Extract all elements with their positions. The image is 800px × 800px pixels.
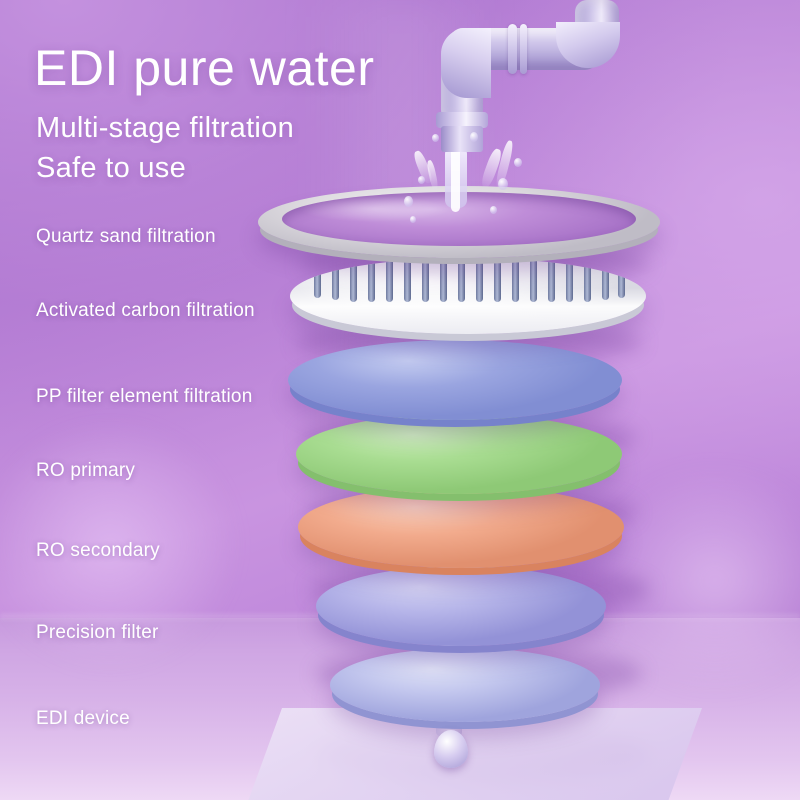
disc-ro-primary bbox=[296, 414, 622, 494]
droplet-6 bbox=[432, 134, 439, 142]
label-precision-filter: Precision filter bbox=[36, 622, 159, 644]
droplet-1 bbox=[404, 196, 413, 207]
label-ro-secondary: RO secondary bbox=[36, 540, 160, 562]
label-activated-carbon-filtration: Activated carbon filtration bbox=[36, 300, 255, 322]
outlet-droplet bbox=[434, 730, 468, 768]
disc-pp-filter-element bbox=[288, 340, 622, 420]
droplet-5 bbox=[470, 132, 478, 142]
disc-precision-filter bbox=[316, 566, 606, 646]
disc-quartz-basin-sheen bbox=[300, 196, 450, 222]
droplet-7 bbox=[490, 206, 497, 214]
subtitle-line-1: Multi-stage filtration bbox=[36, 112, 294, 145]
water-stream-core bbox=[451, 146, 460, 212]
pipe-flange-a bbox=[508, 24, 517, 74]
pipe-elbow-left bbox=[441, 28, 491, 98]
infographic-canvas: EDI pure water Multi-stage filtration Sa… bbox=[0, 0, 800, 800]
label-pp-filter-element-filtration: PP filter element filtration bbox=[36, 386, 252, 408]
subtitle-line-2: Safe to use bbox=[36, 152, 186, 185]
page-title: EDI pure water bbox=[34, 42, 374, 95]
droplet-4 bbox=[514, 158, 522, 167]
label-quartz-sand-filtration: Quartz sand filtration bbox=[36, 226, 216, 248]
label-ro-primary: RO primary bbox=[36, 460, 135, 482]
disc-activated-carbon bbox=[290, 258, 646, 334]
disc-ro-secondary bbox=[298, 486, 624, 568]
droplet-2 bbox=[418, 176, 425, 184]
pipe-flange-b bbox=[520, 24, 527, 74]
droplet-8 bbox=[410, 216, 416, 223]
droplet-3 bbox=[498, 178, 508, 190]
label-edi-device: EDI device bbox=[36, 708, 130, 730]
disc-edi-device bbox=[330, 648, 600, 722]
